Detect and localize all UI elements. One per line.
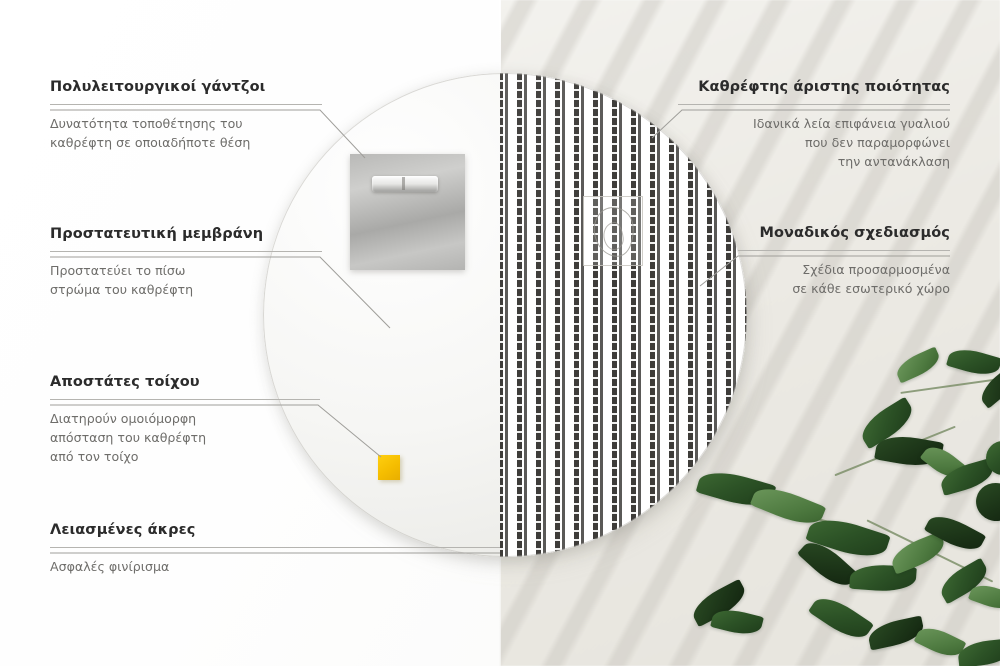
line-art-decoration — [583, 196, 643, 266]
sofa-reflection — [500, 321, 503, 471]
callout-title: Αποστάτες τοίχου — [50, 374, 320, 390]
callout-title: Καθρέφτης άριστης ποιότητας — [678, 79, 950, 95]
callout-body: Δυνατότητα τοποθέτησης του καθρέφτη σε ο… — [50, 114, 322, 152]
callout-protective-membrane: Προστατευτική μεμβράνη Προστατεύει το πί… — [50, 226, 322, 299]
line-art-figure-icon — [591, 205, 636, 259]
yellow-wall-spacer — [378, 455, 400, 480]
infographic-canvas: Πολυλειτουργικοί γάντζοι Δυνατότητα τοπο… — [0, 0, 1000, 666]
callout-rule — [50, 251, 322, 252]
leaf-round — [972, 479, 1000, 524]
callout-multifunctional-hooks: Πολυλειτουργικοί γάντζοι Δυνατότητα τοπο… — [50, 79, 322, 152]
callout-title: Πολυλειτουργικοί γάντζοι — [50, 79, 322, 95]
callout-rule — [50, 104, 322, 105]
callout-body: Ιδανικά λεία επιφάνεια γυαλιού που δεν π… — [678, 114, 950, 171]
metal-hook-plate — [350, 154, 465, 270]
callout-smoothed-edges: Λειασμένες άκρες Ασφαλές φινίρισμα — [50, 522, 500, 576]
callout-body: Ασφαλές φινίρισμα — [50, 557, 500, 576]
callout-rule — [50, 547, 500, 548]
plant-leaves-foreground — [690, 355, 1000, 666]
callout-title: Προστατευτική μεμβράνη — [50, 226, 322, 242]
callout-title: Μοναδικός σχεδιασμός — [738, 225, 950, 241]
callout-wall-spacers: Αποστάτες τοίχου Διατηρούν ομοιόμορφη απ… — [50, 374, 320, 466]
callout-rule — [738, 250, 950, 251]
callout-rule — [678, 104, 950, 105]
callout-body: Σχέδια προσαρμοσμένα σε κάθε εσωτερικό χ… — [738, 260, 950, 298]
callout-top-quality-mirror: Καθρέφτης άριστης ποιότητας Ιδανικά λεία… — [678, 79, 950, 171]
callout-body: Διατηρούν ομοιόμορφη απόσταση του καθρέφ… — [50, 409, 320, 466]
leaf — [808, 590, 874, 646]
callout-body: Προστατεύει το πίσω στρώμα του καθρέφτη — [50, 261, 322, 299]
callout-unique-design: Μοναδικός σχεδιασμός Σχέδια προσαρμοσμέν… — [738, 225, 950, 298]
mirror-body — [263, 73, 747, 557]
hook-slot — [372, 176, 438, 192]
round-mirror — [263, 73, 749, 559]
callout-rule — [50, 399, 320, 400]
callout-title: Λειασμένες άκρες — [50, 522, 500, 538]
